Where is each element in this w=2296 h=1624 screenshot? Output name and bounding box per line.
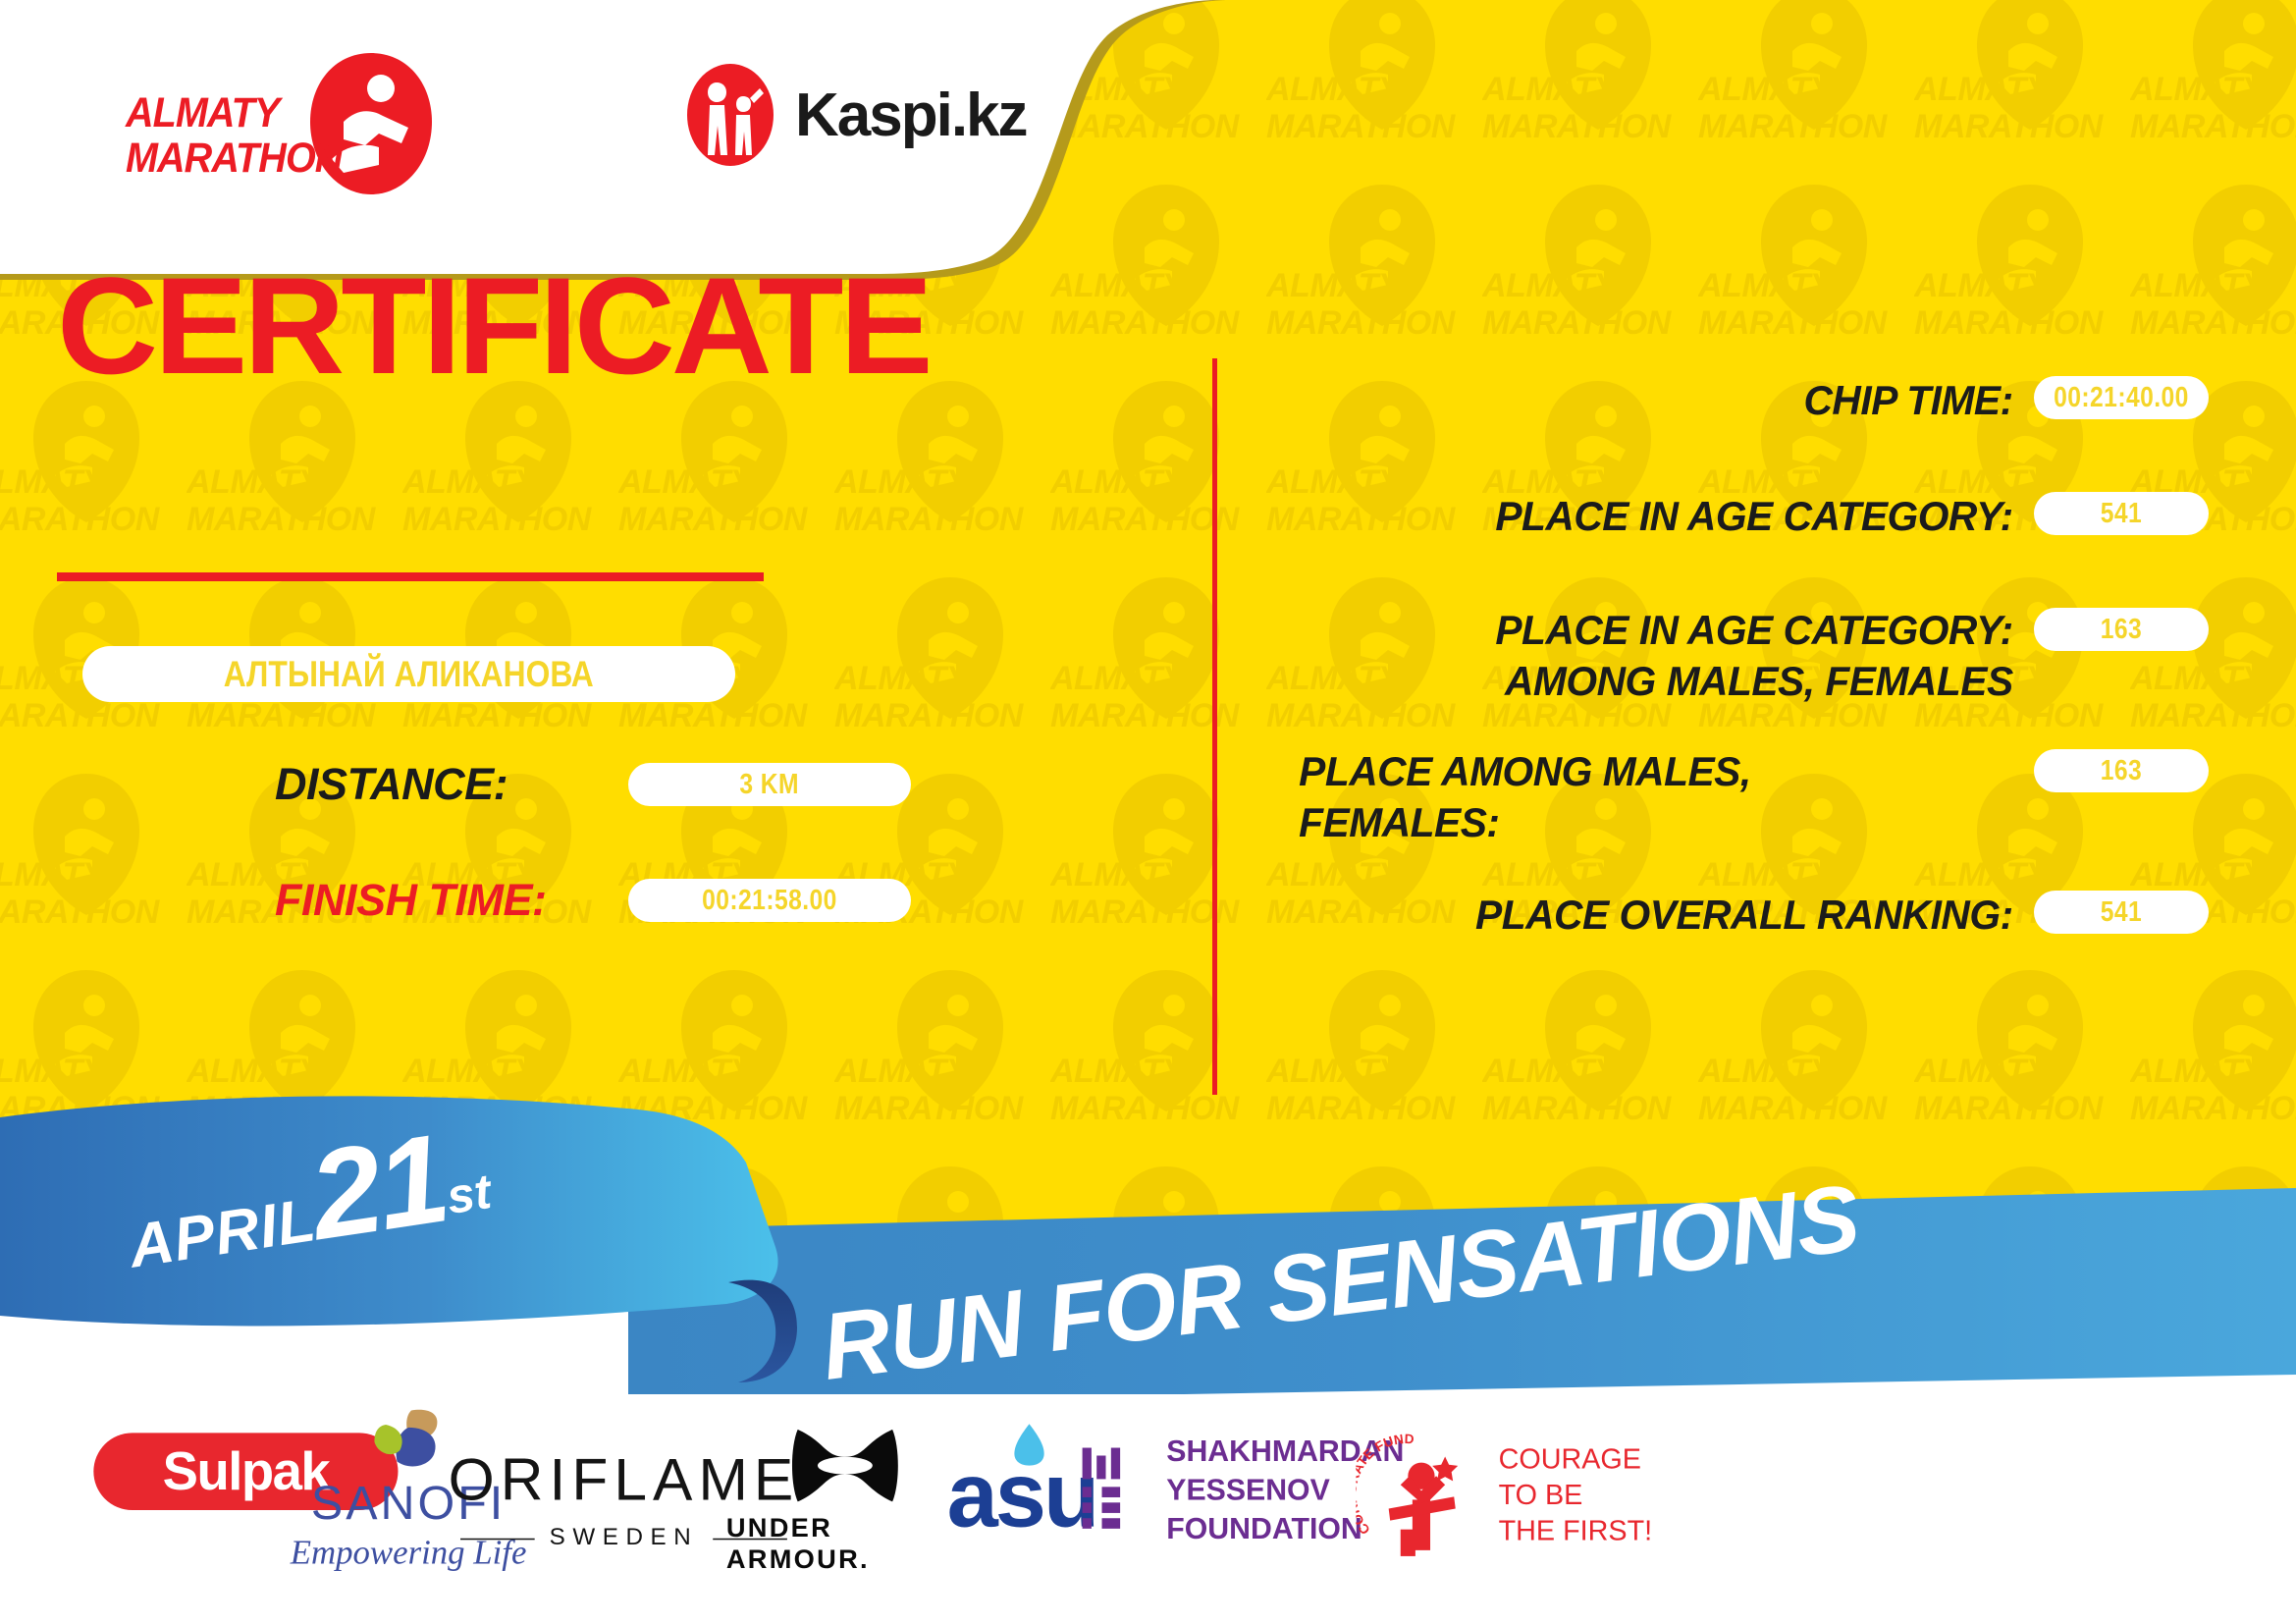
courage-fund-line2: TO BE xyxy=(1499,1479,1653,1514)
participant-name-field: АЛТЫНАЙ АЛИКАНОВА xyxy=(82,646,735,702)
certificate-page: ALMATY MARATHON xyxy=(0,0,2296,1624)
finish-time-label: FINISH TIME: xyxy=(275,875,546,926)
yessenov-bars-icon xyxy=(1080,1441,1140,1540)
place-age-category-value: 541 xyxy=(2101,498,2142,530)
event-month: APRIL xyxy=(125,1186,320,1280)
place-overall-row: PLACE OVERALL RANKING: 541 xyxy=(1266,888,2209,952)
courage-fund-wordmark: COURAGE TO BE THE FIRST! xyxy=(1499,1443,1653,1550)
place-among-gender-label-line2: FEMALES: xyxy=(1299,797,2013,848)
title-underline-rule xyxy=(57,572,764,581)
kaspi-wordmark: Kaspi.kz xyxy=(795,81,1027,150)
sponsor-logo-row: Sulpak SANOFI Empowering Life ORIFLAME S… xyxy=(0,1394,2296,1624)
left-field-group: DISTANCE: 3 KM FINISH TIME: 00:21:58.00 xyxy=(0,756,815,929)
event-day: 21 xyxy=(301,1109,454,1268)
chip-time-row: CHIP TIME: 00:21:40.00 xyxy=(1266,373,2209,438)
place-among-gender-row: PLACE AMONG MALES, FEMALES: 163 xyxy=(1266,746,2209,848)
kaspi-people-icon xyxy=(687,61,774,169)
courage-fund-runner-icon: CORPORATE FUND xyxy=(1356,1432,1480,1562)
distance-value-pill: 3 KM xyxy=(628,763,911,806)
finish-time-value: 00:21:58.00 xyxy=(702,885,837,917)
place-among-gender-label-line1: PLACE AMONG MALES, xyxy=(1299,746,2013,797)
place-overall-value-pill: 541 xyxy=(2034,891,2209,934)
place-age-category-gender-row: PLACE IN AGE CATEGORY: AMONG MALES, FEMA… xyxy=(1266,605,2209,707)
asu-wordmark: asu xyxy=(947,1442,1097,1547)
almaty-wordmark-line1: ALMATY xyxy=(126,90,342,135)
results-field-group: CHIP TIME: 00:21:40.00 PLACE IN AGE CATE… xyxy=(1266,373,2209,952)
place-among-gender-value-pill: 163 xyxy=(2034,749,2209,792)
place-age-category-gender-label-line2: AMONG MALES, FEMALES xyxy=(1289,656,2012,707)
courage-fund-line1: COURAGE xyxy=(1499,1443,1653,1479)
sponsor-bar: Sulpak SANOFI Empowering Life ORIFLAME S… xyxy=(0,1394,2296,1624)
page-title: CERTIFICATE xyxy=(57,257,930,395)
place-age-category-gender-label: PLACE IN AGE CATEGORY: AMONG MALES, FEMA… xyxy=(1289,605,2034,707)
participant-name-value: АЛТЫНАЙ АЛИКАНОВА xyxy=(224,654,594,695)
courage-fund-line3: THE FIRST! xyxy=(1499,1515,1653,1550)
distance-value: 3 KM xyxy=(740,769,800,801)
place-age-category-gender-value: 163 xyxy=(2101,614,2142,646)
kaspi-logo: Kaspi.kz xyxy=(687,61,1027,169)
asu-droplet-icon xyxy=(1012,1422,1044,1466)
place-age-category-label: PLACE IN AGE CATEGORY: xyxy=(1289,489,2034,543)
place-age-category-gender-label-line1: PLACE IN AGE CATEGORY: xyxy=(1289,605,2012,656)
almaty-wordmark-line2: MARATHON xyxy=(126,135,342,181)
chip-time-label: CHIP TIME: xyxy=(1289,373,2034,427)
distance-label: DISTANCE: xyxy=(275,759,507,810)
place-age-category-value-pill: 541 xyxy=(2034,492,2209,535)
almaty-marathon-wordmark: ALMATY MARATHON xyxy=(126,90,342,181)
chip-time-value: 00:21:40.00 xyxy=(2054,382,2189,414)
place-age-category-row: PLACE IN AGE CATEGORY: 541 xyxy=(1266,489,2209,554)
oriflame-country: SWEDEN xyxy=(550,1525,699,1551)
sponsor-logo-courage-fund: CORPORATE FUND COURAGE TO BE THE FIRST! xyxy=(1356,1415,1697,1578)
chip-time-value-pill: 00:21:40.00 xyxy=(2034,376,2209,419)
place-overall-label: PLACE OVERALL RANKING: xyxy=(1289,888,2034,942)
finish-time-row: FINISH TIME: 00:21:58.00 xyxy=(0,872,815,929)
header-logo-group: ALMATY MARATHON Kaspi.kz xyxy=(0,0,1227,285)
place-age-category-gender-value-pill: 163 xyxy=(2034,608,2209,651)
distance-row: DISTANCE: 3 KM xyxy=(0,756,815,813)
place-overall-value: 541 xyxy=(2101,896,2142,929)
place-among-gender-label: PLACE AMONG MALES, FEMALES: xyxy=(1289,746,2034,848)
event-day-ordinal: st xyxy=(443,1164,494,1224)
oriflame-rule-left xyxy=(460,1538,534,1540)
under-armour-icon xyxy=(762,1427,928,1504)
column-divider xyxy=(1212,358,1217,1095)
almaty-marathon-logo: ALMATY MARATHON xyxy=(126,47,459,185)
place-among-gender-value: 163 xyxy=(2101,755,2142,787)
finish-time-value-pill: 00:21:58.00 xyxy=(628,879,911,922)
header-panel: ALMATY MARATHON Kaspi.kz xyxy=(0,0,1227,285)
